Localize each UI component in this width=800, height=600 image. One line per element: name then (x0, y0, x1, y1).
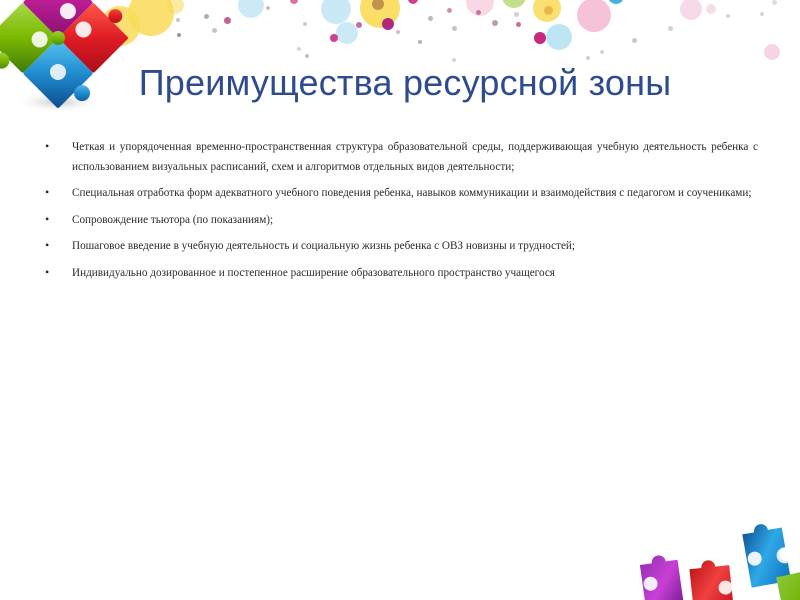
confetti-dot (476, 10, 481, 15)
confetti-dot (502, 0, 526, 8)
confetti-dot (396, 30, 400, 34)
list-item: Сопровождение тьютора (по показаниям); (40, 211, 758, 231)
slide-canvas: Преимущества ресурсной зоны Четкая и упо… (0, 0, 800, 600)
confetti-dot (600, 50, 604, 54)
confetti-dot (706, 4, 716, 14)
confetti-dot (266, 6, 270, 10)
confetti-dot (356, 22, 362, 28)
confetti-dot (492, 20, 498, 26)
confetti-dot (764, 44, 780, 60)
confetti-dot (447, 8, 452, 13)
confetti-dot (303, 22, 307, 26)
list-item: Четкая и упорядоченная временно-простран… (40, 138, 758, 177)
confetti-dot (238, 0, 264, 18)
confetti-dot (305, 54, 309, 58)
confetti-dot (321, 0, 351, 24)
confetti-dot (452, 26, 457, 31)
confetti-dot (668, 26, 673, 31)
confetti-dot (514, 12, 519, 17)
confetti-dot (577, 0, 611, 32)
confetti-dot (608, 0, 624, 4)
confetti-dot (680, 0, 702, 20)
puzzle-pieces-graphic (620, 516, 800, 600)
confetti-dot (330, 34, 338, 42)
list-item: Специальная отработка форм адекватного у… (40, 184, 758, 204)
confetti-dot (176, 18, 180, 22)
confetti-dot (466, 0, 494, 16)
confetti-dot (290, 0, 298, 4)
confetti-dot (224, 17, 231, 24)
confetti-dot (546, 24, 572, 50)
confetti-dot (772, 0, 777, 5)
confetti-dot (372, 0, 384, 10)
list-item: Индивидуально дозированное и постепенное… (40, 264, 758, 284)
bullet-list: Четкая и упорядоченная временно-простран… (40, 138, 758, 290)
confetti-dot (204, 14, 209, 19)
confetti-dot (516, 22, 521, 27)
confetti-dot (760, 12, 764, 16)
confetti-dot (166, 0, 184, 14)
confetti-dot (382, 18, 394, 30)
confetti-dot (428, 16, 433, 21)
slide-title: Преимущества ресурсной зоны (60, 60, 750, 106)
list-item: Пошаговое введение в учебную деятельност… (40, 237, 758, 257)
confetti-dot (297, 47, 301, 51)
confetti-dot (632, 38, 637, 43)
confetti-dot (360, 0, 400, 28)
confetti-dot (212, 28, 217, 33)
confetti-dot (336, 22, 358, 44)
confetti-dot (533, 0, 561, 22)
confetti-dot (726, 14, 730, 18)
confetti-dot (418, 40, 422, 44)
confetti-dot (408, 0, 418, 4)
confetti-dot (534, 32, 546, 44)
confetti-dot (177, 33, 181, 37)
confetti-dot (544, 6, 553, 15)
